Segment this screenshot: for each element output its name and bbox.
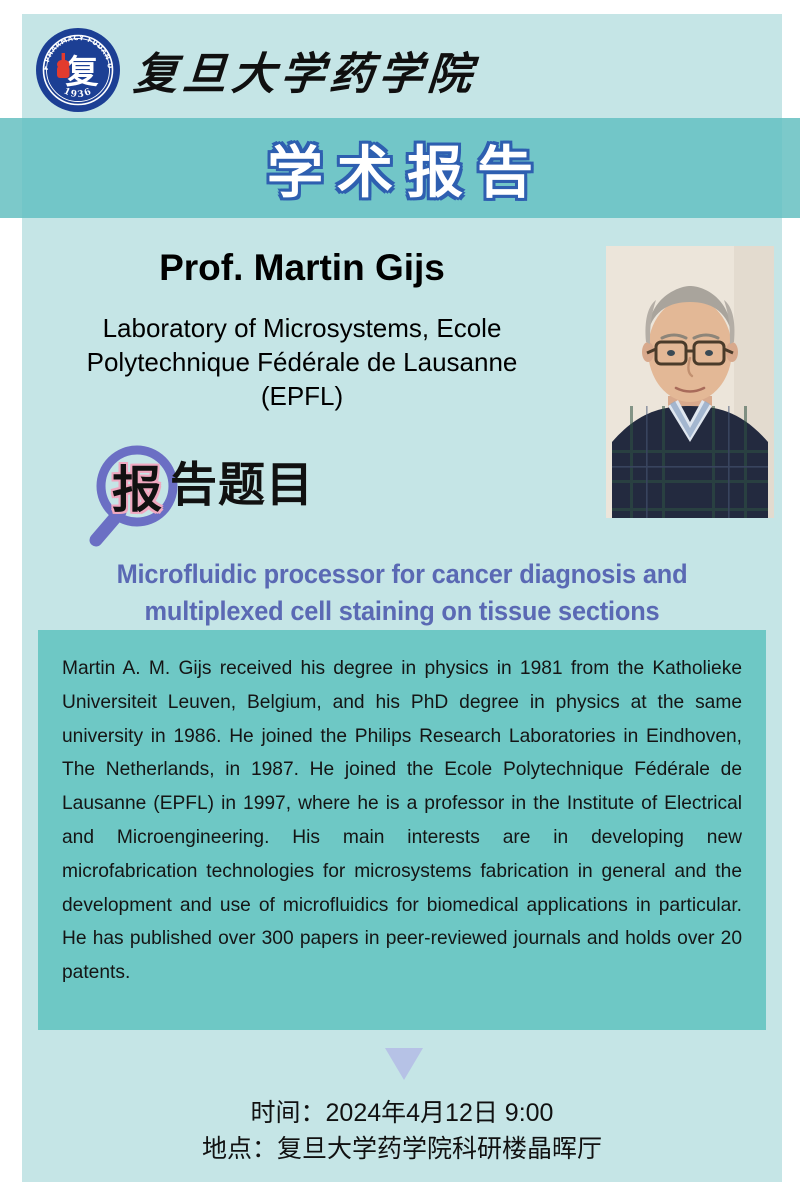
topic-char-inside-magnifier: 报 xyxy=(105,456,169,516)
biography-box: Martin A. M. Gijs received his degree in… xyxy=(38,630,766,1030)
speaker-photo xyxy=(606,246,774,518)
event-details: 时间：2024年4月12日 9:00 地点：复旦大学药学院科研楼晶晖厅 xyxy=(22,1096,782,1167)
institution-logo-row: SCHOOL OF PHARMACY FUDAN UNIVERSITY 1936… xyxy=(36,28,477,112)
banner-band: 学术报告 xyxy=(0,118,800,218)
talk-title: Microfluidic processor for cancer diagno… xyxy=(52,556,751,631)
speaker-block: Prof. Martin Gijs Laboratory of Microsys… xyxy=(22,248,582,414)
biography-text: Martin A. M. Gijs received his degree in… xyxy=(62,652,742,990)
banner-title: 学术报告 xyxy=(0,118,800,218)
event-location: 地点：复旦大学药学院科研楼晶晖厅 xyxy=(22,1132,782,1168)
speaker-name: Prof. Martin Gijs xyxy=(22,248,582,289)
topic-label-row: 报 告题目 xyxy=(86,444,416,548)
triangle-down-icon xyxy=(385,1048,423,1080)
svg-text:复: 复 xyxy=(66,52,99,91)
poster-header: SCHOOL OF PHARMACY FUDAN UNIVERSITY 1936… xyxy=(22,14,782,118)
topic-label-text: 告题目 xyxy=(170,456,314,516)
fudan-pharmacy-seal-icon: SCHOOL OF PHARMACY FUDAN UNIVERSITY 1936… xyxy=(36,28,120,112)
speaker-affiliation: Laboratory of Microsystems, Ecole Polyte… xyxy=(22,311,582,414)
event-time: 时间：2024年4月12日 9:00 xyxy=(22,1096,782,1132)
university-name: 复旦大学药学院 xyxy=(132,38,479,102)
